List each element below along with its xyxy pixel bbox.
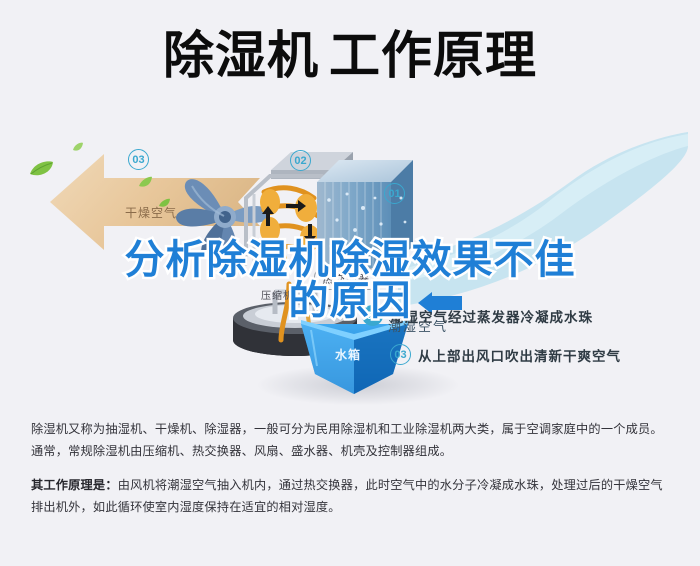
evaporator-coil-graphic [313,158,418,278]
leaf-icon-1 [28,160,54,178]
badge-03-bullet: 03 [390,344,411,365]
bullet-text-2: 从上部出风口吹出清新干爽空气 [418,345,621,365]
body-paragraph-2: 其工作原理是：由风机将潮湿空气抽入机内，通过热交换器，此时空气中的水分子冷凝成水… [31,474,671,518]
body-paragraph-2-lead: 其工作原理是： [31,478,118,492]
compressor-label: 压缩机 [261,287,294,302]
badge-03-dry-air: 03 [128,149,149,170]
infographic-page: 除湿机工作原理 干燥空气 03 [0,0,700,566]
water-tank-label: 水箱 [335,346,361,363]
leaf-icon-2 [72,142,84,152]
heat-exchanger-callout: 热交换器 [314,268,378,290]
badge-02-heat-exchanger: 02 [290,150,311,171]
badge-01-humid-air: 01 [384,183,405,204]
leaf-icon-3 [138,176,153,188]
page-title-part1: 除湿机 [163,27,319,84]
body-paragraph-1: 除湿机又称为抽湿机、干燥机、除湿器，一般可分为民用除湿机和工业除湿机两大类，属于… [31,418,671,462]
callout-tail-graphic [342,285,364,301]
article-body: 除湿机又称为抽湿机、干燥机、除湿器，一般可分为民用除湿机和工业除湿机两大类，属于… [31,418,671,530]
page-title: 除湿机工作原理 [0,28,700,84]
page-title-part2: 工作原理 [329,27,537,84]
bullet-text-1: 潮湿空气经过蒸发器冷凝成水珠 [390,306,593,326]
bullet-line-2: 03 从上部出风口吹出清新干爽空气 [390,344,621,365]
body-paragraph-2-text: 由风机将潮湿空气抽入机内，通过热交换器，此时空气中的水分子冷凝成水珠，处理过后的… [31,478,663,514]
badge-02-bullet: 02 [362,305,383,326]
bullet-line-1: 02 潮湿空气经过蒸发器冷凝成水珠 [362,305,593,326]
dehumidifier-diagram: 干燥空气 03 [0,120,700,410]
